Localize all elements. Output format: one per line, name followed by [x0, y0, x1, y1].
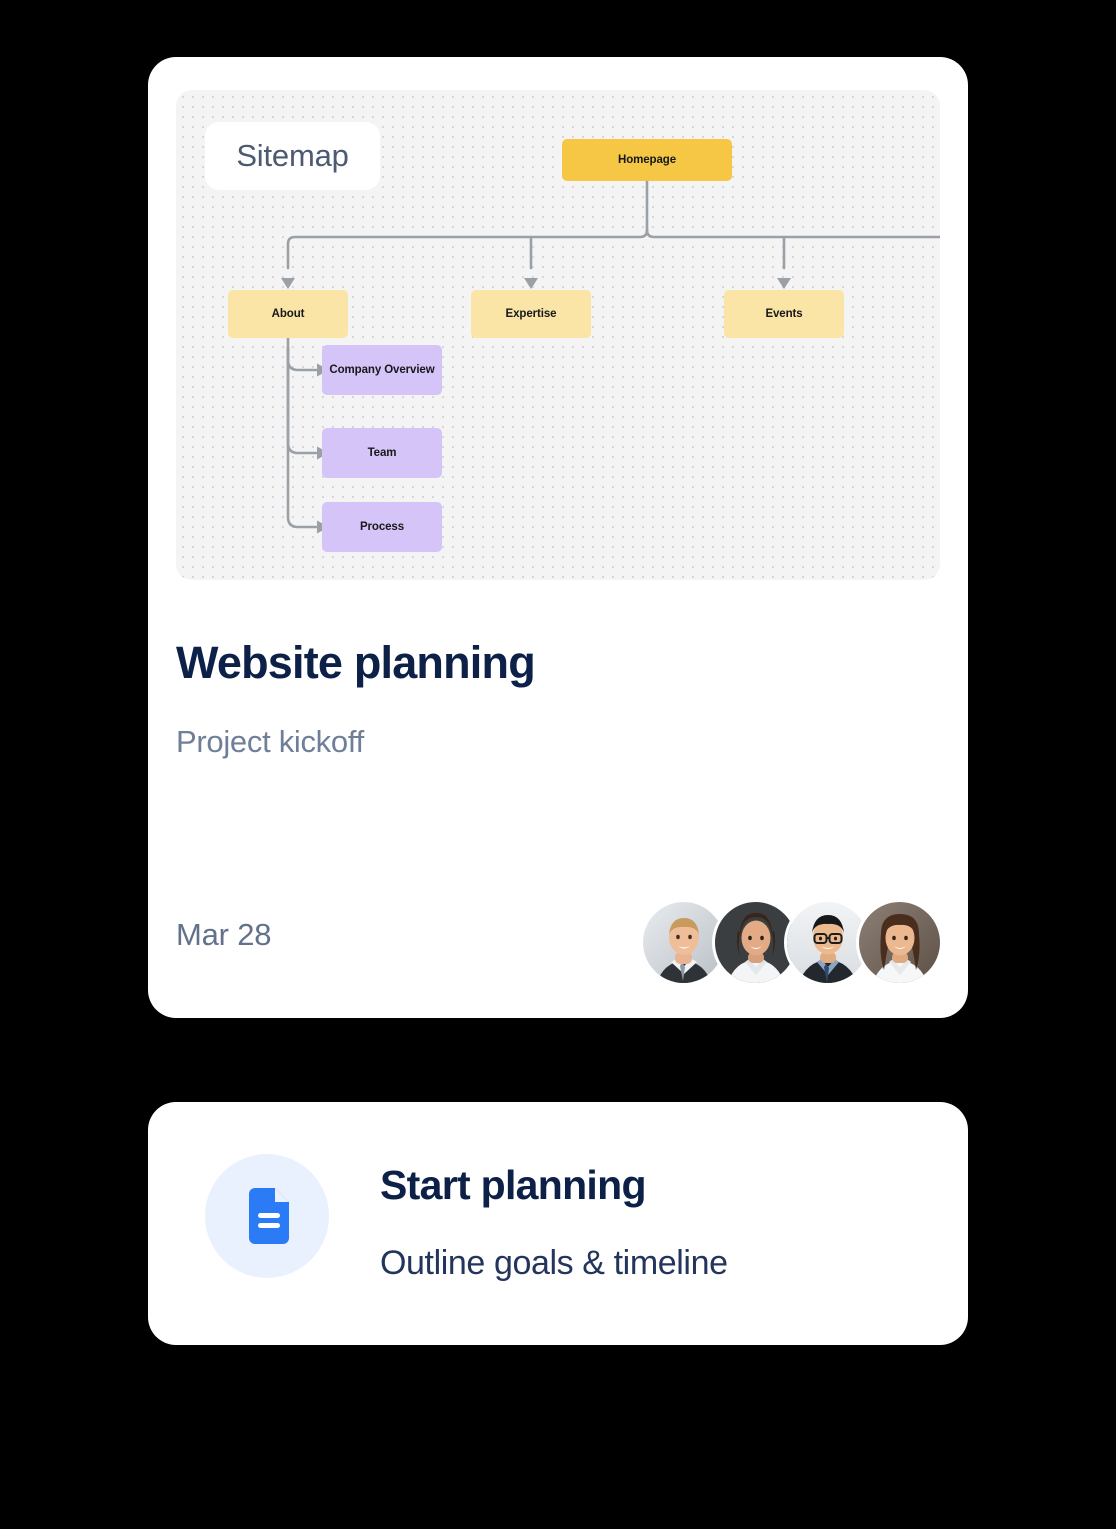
- avatar-person-3[interactable]: [787, 902, 868, 983]
- document-icon-badge: [205, 1154, 329, 1278]
- sitemap-node-expertise[interactable]: Expertise: [471, 290, 591, 338]
- avatar-person-2[interactable]: [715, 902, 796, 983]
- avatar-group[interactable]: [643, 902, 940, 983]
- sitemap-node-homepage[interactable]: Homepage: [562, 139, 732, 181]
- project-subtitle: Project kickoff: [176, 724, 364, 760]
- document-icon: [235, 1184, 299, 1248]
- sitemap-chip-label: Sitemap: [236, 138, 348, 174]
- start-planning-title: Start planning: [380, 1162, 646, 1209]
- sitemap-node-team[interactable]: Team: [322, 428, 442, 478]
- sitemap-node-company-overview[interactable]: Company Overview: [322, 345, 442, 395]
- sitemap-label-chip: Sitemap: [205, 122, 380, 190]
- start-planning-subtitle: Outline goals & timeline: [380, 1244, 728, 1283]
- project-date: Mar 28: [176, 917, 271, 953]
- project-card[interactable]: Sitemap Homepage About Expertise Events …: [148, 57, 968, 1018]
- screenshot-stage: Sitemap Homepage About Expertise Events …: [0, 0, 1116, 1529]
- avatar-person-4[interactable]: [859, 902, 940, 983]
- sitemap-diagram-panel[interactable]: Sitemap Homepage About Expertise Events …: [176, 90, 940, 580]
- project-title: Website planning: [176, 637, 535, 689]
- avatar-person-1[interactable]: [643, 902, 724, 983]
- sitemap-node-about[interactable]: About: [228, 290, 348, 338]
- start-planning-card[interactable]: Start planning Outline goals & timeline: [148, 1102, 968, 1345]
- sitemap-node-process[interactable]: Process: [322, 502, 442, 552]
- sitemap-node-events[interactable]: Events: [724, 290, 844, 338]
